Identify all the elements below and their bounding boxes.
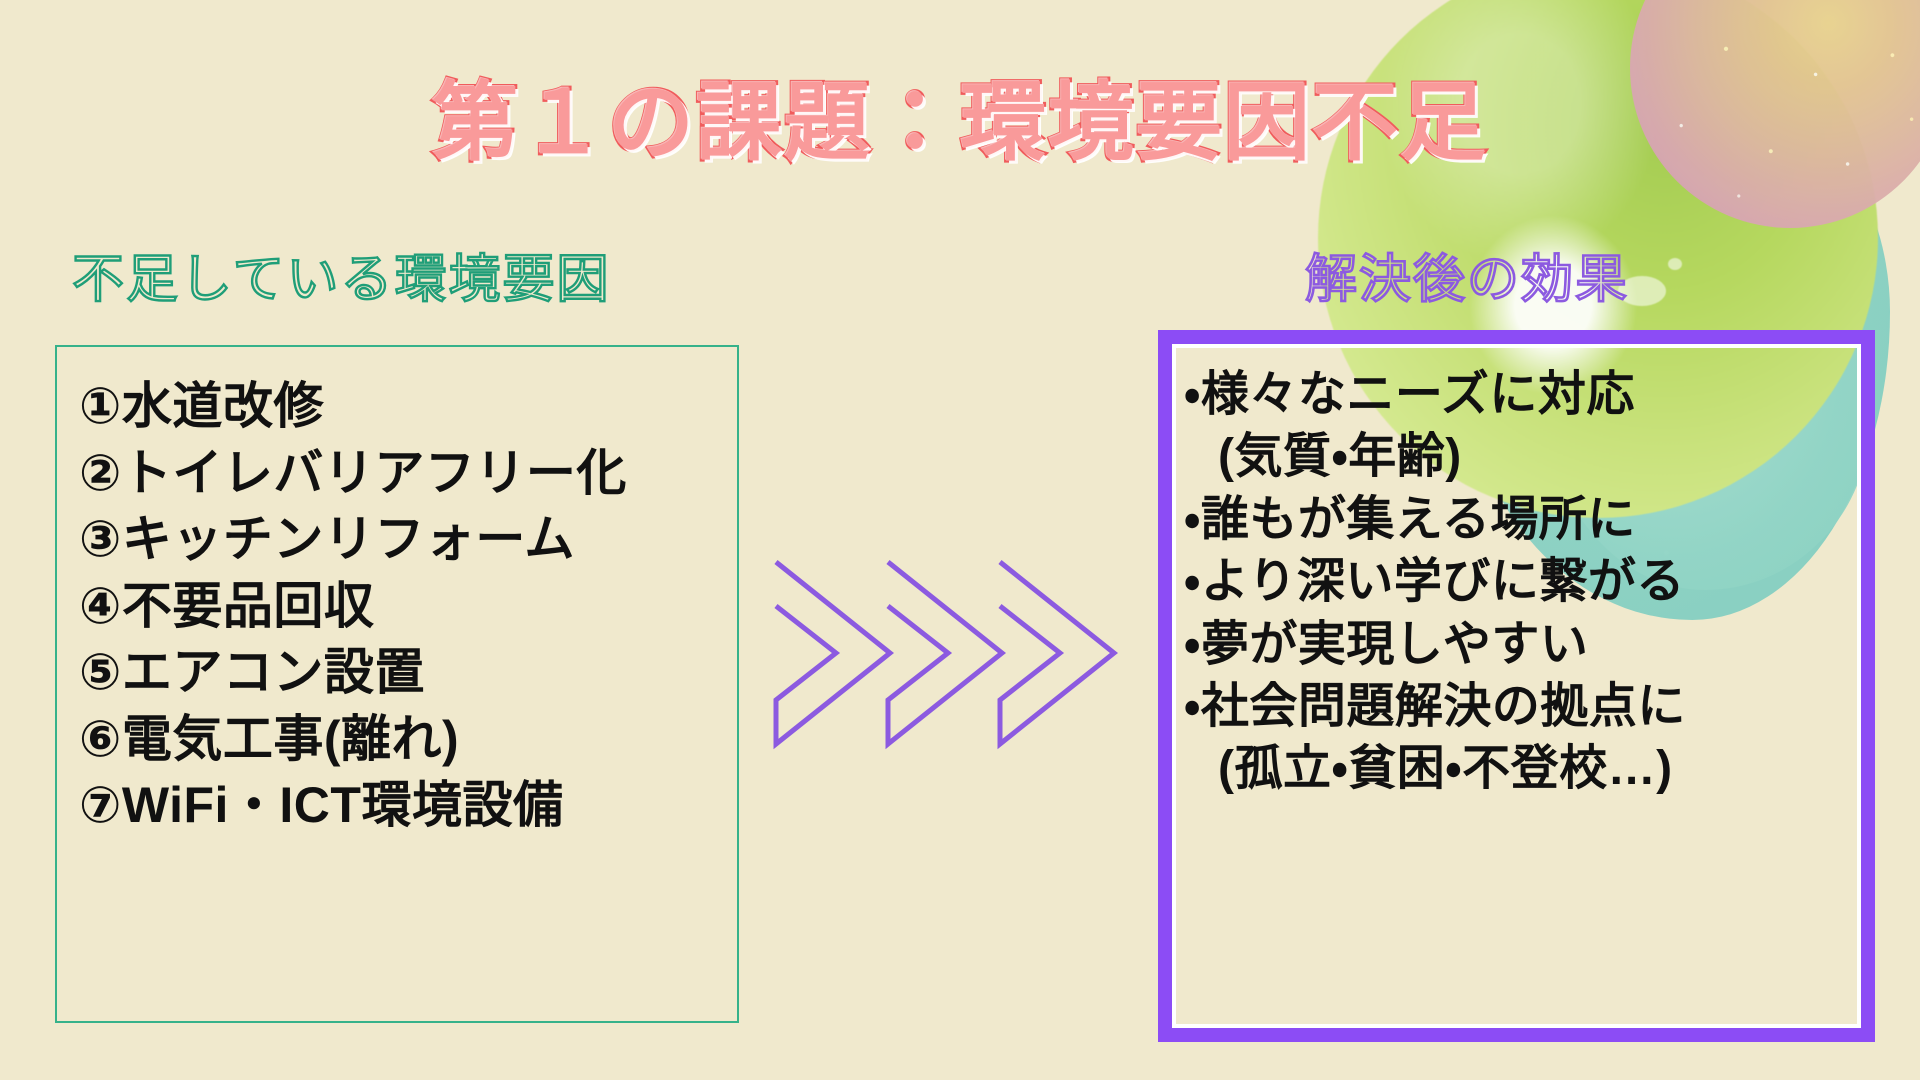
list-item: ②トイレバリアフリー化 [79,440,737,507]
left-list-box: ①水道改修 ②トイレバリアフリー化 ③キッチンリフォーム ④不要品回収 ⑤エアコ… [55,345,739,1023]
effects-list: ・様々なニーズに対応 (気質・年齢) ・誰もが集える場所に ・より深い学びに繋が… [1172,344,1861,801]
list-item: ⑤エアコン設置 [79,639,737,706]
list-item: (気質・年齢) [1184,426,1861,488]
left-column-heading: 不足している環境要因 [72,254,610,306]
list-item: ④不要品回収 [79,573,737,640]
slide-canvas: 第１の課題：環境要因不足 不足している環境要因 ①水道改修 ②トイレバリアフリー… [0,0,1920,1080]
right-list-box: ・様々なニーズに対応 (気質・年齢) ・誰もが集える場所に ・より深い学びに繋が… [1158,330,1875,1042]
page-title: 第１の課題：環境要因不足 [0,80,1920,166]
list-item: ・社会問題解決の拠点に [1184,676,1861,738]
list-item: ・誰もが集える場所に [1184,489,1861,551]
list-item: ・夢が実現しやすい [1184,614,1861,676]
list-item: ⑥電気工事(離れ) [79,706,737,773]
list-item: ③キッチンリフォーム [79,506,737,573]
list-item: ⑦WiFi・ICT環境設備 [79,772,737,839]
list-item: ①水道改修 [79,373,737,440]
right-column-heading: 解決後の効果 [1305,254,1629,306]
green-circle-highlight-2 [1668,258,1682,270]
problem-list: ①水道改修 ②トイレバリアフリー化 ③キッチンリフォーム ④不要品回収 ⑤エアコ… [57,347,737,839]
list-item: ・より深い学びに繋がる [1184,551,1861,613]
list-item: ・様々なニーズに対応 [1184,364,1861,426]
triple-chevron-right-icon [750,548,1140,758]
list-item: (孤立・貧困・不登校…) [1184,738,1861,800]
